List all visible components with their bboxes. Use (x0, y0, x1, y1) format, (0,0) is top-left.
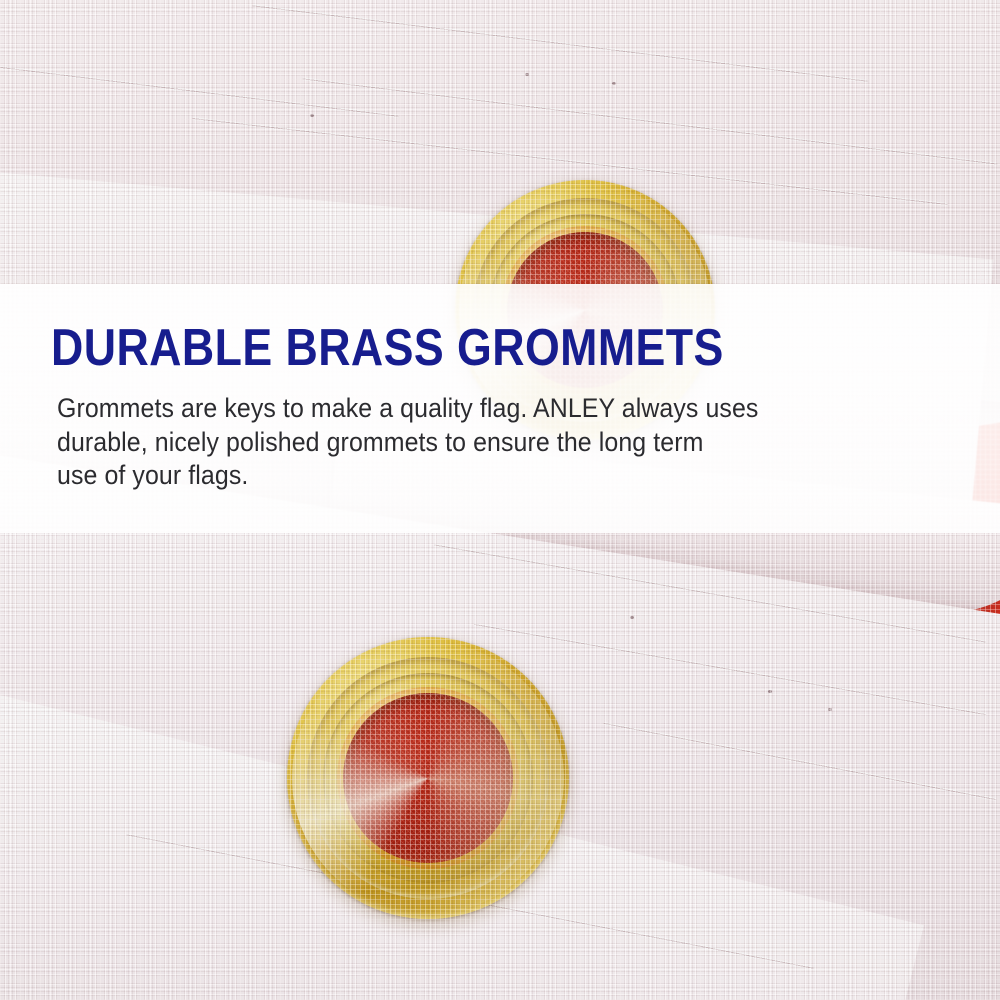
description-line-1: Grommets are keys to make a quality flag… (57, 392, 884, 426)
description-line-3: use of your flags. (57, 459, 884, 493)
description-line-2: durable, nicely polished grommets to ens… (57, 426, 884, 460)
page-title: DURABLE BRASS GROMMETS (51, 322, 724, 374)
product-feature-banner: DURABLE BRASS GROMMETS Grommets are keys… (0, 0, 1000, 1000)
description-text: Grommets are keys to make a quality flag… (57, 392, 884, 493)
